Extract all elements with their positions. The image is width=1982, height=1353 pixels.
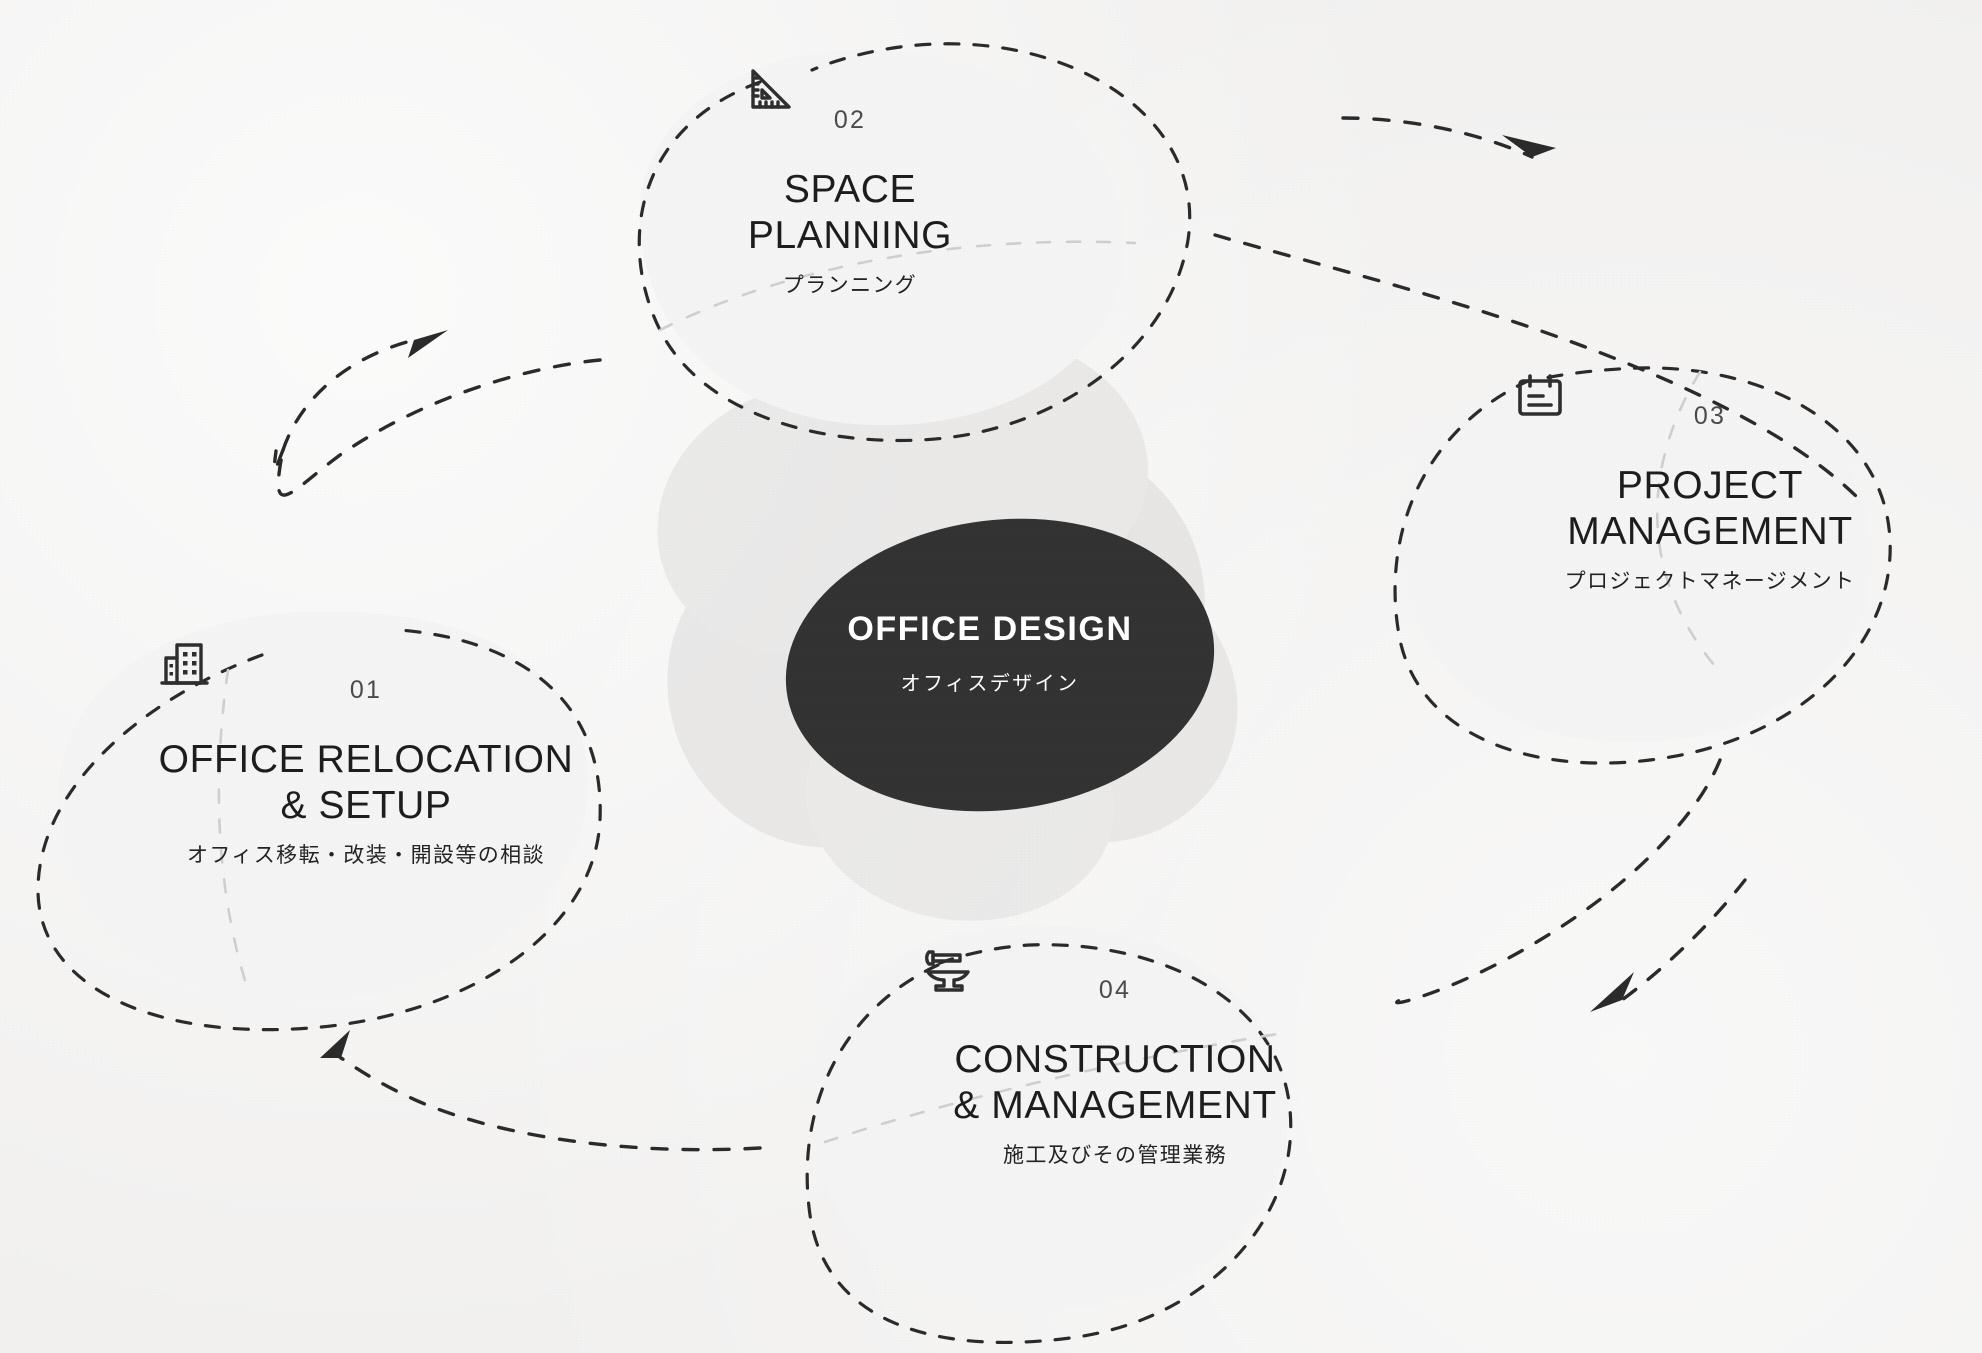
node-01-title: OFFICE RELOCATION & SETUP	[96, 737, 636, 829]
arrow-03-to-04-sweep	[1397, 760, 1720, 1003]
node-03-number: 03	[1480, 404, 1940, 429]
node-03-subtitle: プロジェクトマネージメント	[1480, 571, 1940, 592]
node-03-title: PROJECT MANAGEMENT	[1480, 463, 1940, 555]
node-02-title: SPACE PLANNING	[650, 167, 1050, 259]
arrow-04-to-01-path	[341, 1058, 760, 1150]
arrowhead-04-to-01	[320, 1030, 350, 1058]
arrowhead-01-to-02	[408, 330, 448, 358]
process-node-03[interactable]: 03 PROJECT MANAGEMENT プロジェクトマネージメント	[1480, 404, 1940, 592]
process-node-04[interactable]: 04 CONSTRUCTION & MANAGEMENT 施工及びその管理業務	[845, 978, 1385, 1166]
node-04-subtitle: 施工及びその管理業務	[845, 1145, 1385, 1166]
process-node-02[interactable]: 02 SPACE PLANNING プランニング	[650, 108, 1050, 296]
arrow-01-to-02-path	[283, 340, 414, 450]
arrow-03-to-04-path	[1622, 880, 1745, 1000]
process-node-01[interactable]: 01 OFFICE RELOCATION & SETUP オフィス移転・改装・開…	[96, 678, 636, 866]
arrow-01-to-02-sweep	[278, 360, 600, 495]
arrowhead-02-to-03	[1502, 135, 1556, 157]
node-02-subtitle: プランニング	[650, 275, 1050, 296]
diagram-canvas: 01 OFFICE RELOCATION & SETUP オフィス移転・改装・開…	[0, 0, 1982, 1353]
node-04-title: CONSTRUCTION & MANAGEMENT	[845, 1037, 1385, 1129]
node-04-number: 04	[845, 978, 1385, 1003]
node-01-subtitle: オフィス移転・改装・開設等の相談	[96, 845, 636, 866]
arrow-02-to-03-path	[1343, 118, 1532, 157]
node-01-number: 01	[96, 678, 636, 703]
arrowhead-03-to-04	[1590, 972, 1634, 1012]
node-02-number: 02	[650, 108, 1050, 133]
